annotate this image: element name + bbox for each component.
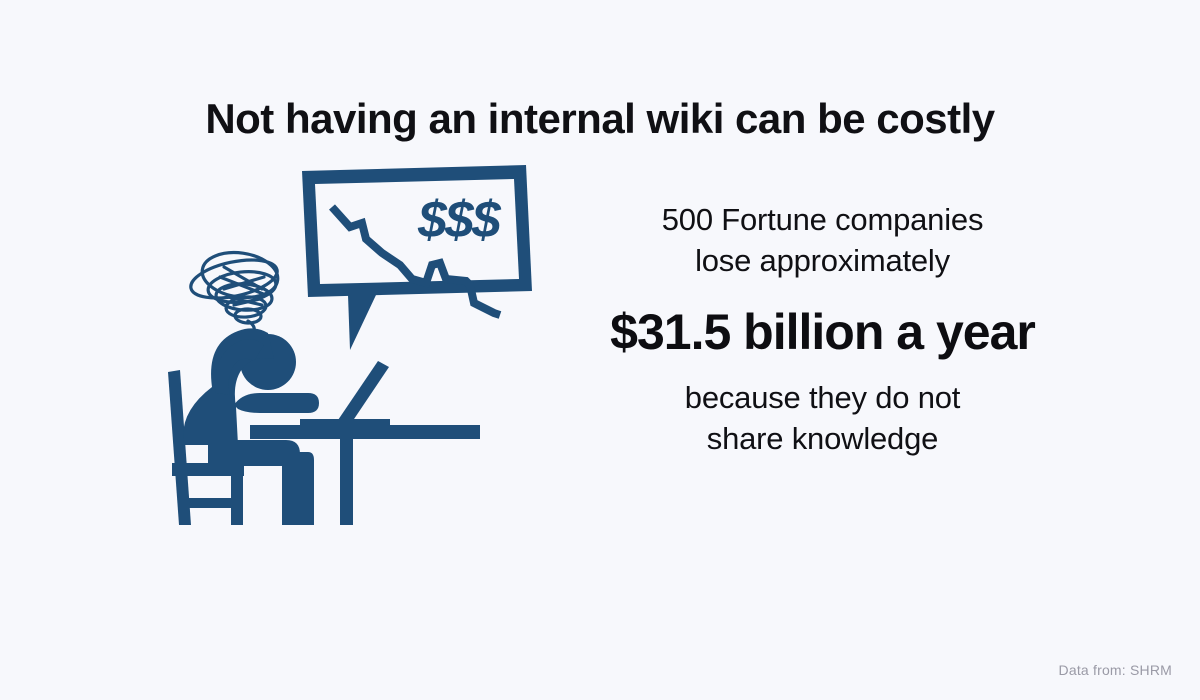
illustration-group: $$$: [150, 155, 550, 535]
dollar-signs-icon: $$$: [417, 191, 502, 249]
dollar-signs-label: $$$: [417, 191, 502, 249]
infographic-canvas: Not having an internal wiki can be costl…: [0, 0, 1200, 700]
illustration-svg: $$$: [150, 155, 550, 535]
person-lower-leg: [282, 452, 314, 525]
stat-tail-line-2: share knowledge: [555, 419, 1090, 460]
frustration-scribble-icon: [187, 248, 280, 338]
stat-tail-line-1: because they do not: [555, 378, 1090, 419]
stat-highlight: $31.5 billion a year: [555, 304, 1090, 360]
stat-block: 500 Fortune companies lose approximately…: [555, 200, 1090, 460]
source-attribution: Data from: SHRM: [1059, 662, 1172, 678]
stat-lead-line-1: 500 Fortune companies: [555, 200, 1090, 241]
person-forearm: [234, 393, 319, 413]
stat-lead: 500 Fortune companies lose approximately: [555, 200, 1090, 282]
page-title: Not having an internal wiki can be costl…: [0, 96, 1200, 142]
stat-lead-line-2: lose approximately: [555, 241, 1090, 282]
speech-bubble-tail: [348, 295, 376, 350]
stat-tail: because they do not share knowledge: [555, 378, 1090, 460]
